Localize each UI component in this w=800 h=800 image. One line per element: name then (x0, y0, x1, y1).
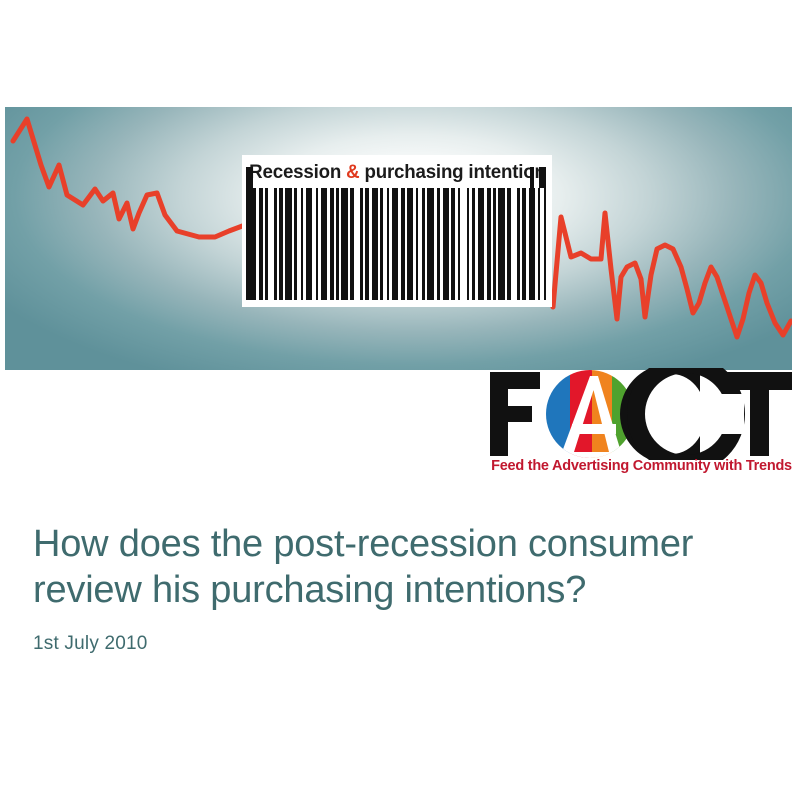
barcode-label-suffix: purchasing intention (359, 161, 545, 183)
inner-letter-a-crossbar (572, 424, 616, 434)
market-line-right-segment (553, 213, 791, 337)
slide-date: 1st July 2010 (33, 633, 763, 655)
fact-wordmark (488, 368, 793, 460)
fact-letter-c (620, 368, 744, 460)
title-block: How does the post-recession consumer rev… (33, 521, 763, 655)
barcode-bar (540, 188, 544, 300)
fact-letter-f (490, 372, 540, 456)
barcode-graphic: Recession & purchasing intention (242, 155, 552, 307)
barcode-bars (250, 188, 544, 300)
fact-tagline: Feed the Advertising Community with Tren… (490, 458, 793, 474)
page-title: How does the post-recession consumer rev… (33, 521, 763, 613)
fact-logo: Feed the Advertising Community with Tren… (488, 368, 793, 486)
barcode-label-prefix: Recession (249, 161, 346, 183)
barcode-label: Recession & purchasing intention (242, 157, 552, 187)
barcode-label-ampersand: & (346, 161, 359, 183)
recession-banner: Recession & purchasing intention (5, 107, 792, 370)
